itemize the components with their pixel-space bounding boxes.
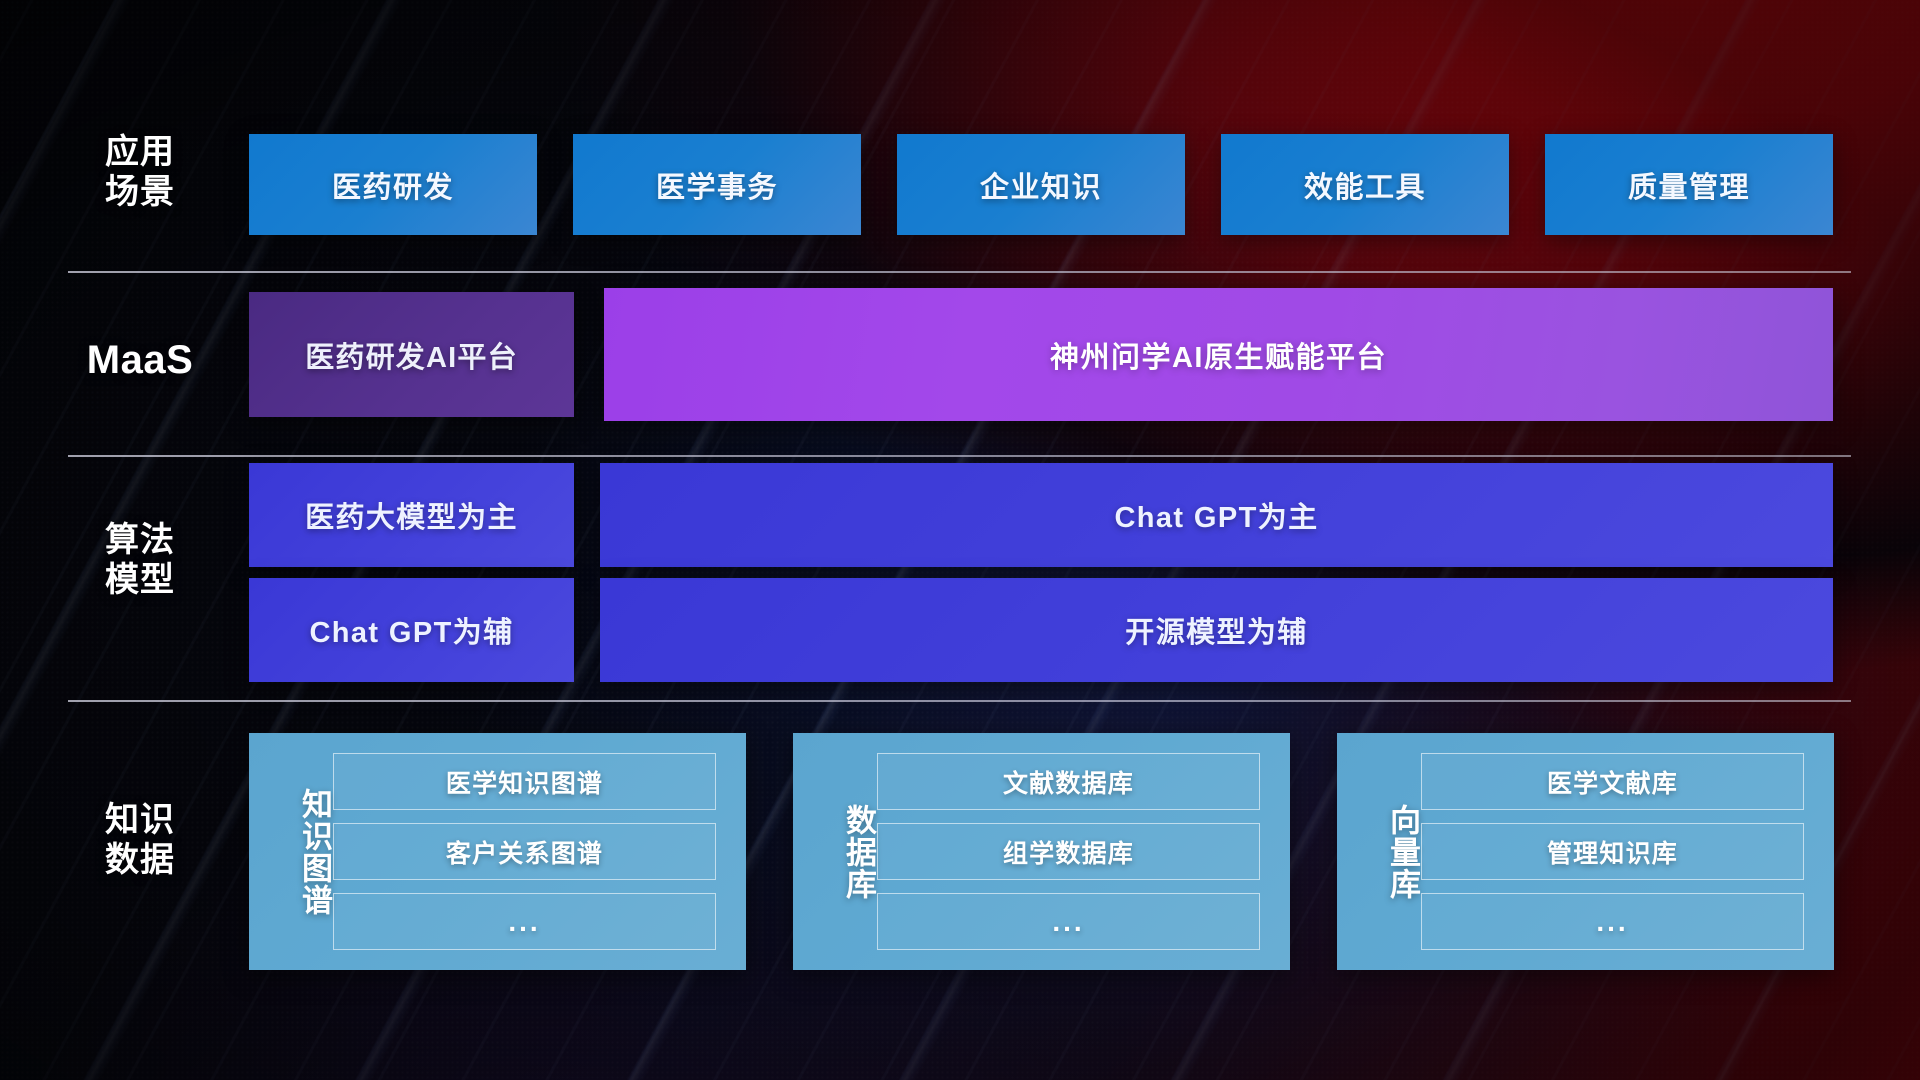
slide-canvas: 应用 场景 医药研发 医学事务 企业知识 效能工具 质量管理 MaaS 医药研发… bbox=[0, 0, 1920, 1080]
row-label-knowledge: 知识 数据 bbox=[60, 800, 220, 880]
knowledge-group-0-vertical-label: 知识图谱 bbox=[249, 788, 333, 916]
knowledge-item-2-0[interactable]: 医学文献库 bbox=[1421, 753, 1804, 810]
knowledge-item-0-1[interactable]: 客户关系图谱 bbox=[333, 823, 716, 880]
knowledge-item-label-2-0: 医学文献库 bbox=[1547, 764, 1678, 800]
app-box-1[interactable]: 医学事务 bbox=[573, 134, 861, 235]
app-box-label-0: 医药研发 bbox=[332, 164, 454, 206]
algo-box-left-top-label: 医药大模型为主 bbox=[305, 494, 518, 536]
knowledge-item-2-2[interactable]: ... bbox=[1421, 893, 1804, 950]
knowledge-item-label-2-1: 管理知识库 bbox=[1547, 834, 1678, 870]
knowledge-item-label-1-1: 组学数据库 bbox=[1003, 834, 1134, 870]
knowledge-group-1: 数据库 文献数据库 组学数据库 ... bbox=[793, 733, 1290, 970]
knowledge-group-2-vertical-label: 向量库 bbox=[1337, 804, 1421, 900]
knowledge-item-1-1[interactable]: 组学数据库 bbox=[877, 823, 1260, 880]
knowledge-group-0: 知识图谱 医学知识图谱 客户关系图谱 ... bbox=[249, 733, 746, 970]
knowledge-group-1-items: 文献数据库 组学数据库 ... bbox=[877, 733, 1290, 970]
algo-box-left-bottom[interactable]: Chat GPT为辅 bbox=[249, 578, 574, 682]
app-box-label-3: 效能工具 bbox=[1304, 164, 1426, 206]
diagram-content: 应用 场景 医药研发 医学事务 企业知识 效能工具 质量管理 MaaS 医药研发… bbox=[0, 0, 1920, 1080]
app-box-0[interactable]: 医药研发 bbox=[249, 134, 537, 235]
app-box-4[interactable]: 质量管理 bbox=[1545, 134, 1833, 235]
knowledge-item-2-1[interactable]: 管理知识库 bbox=[1421, 823, 1804, 880]
app-box-3[interactable]: 效能工具 bbox=[1221, 134, 1509, 235]
maas-box-right-label: 神州问学AI原生赋能平台 bbox=[1050, 334, 1387, 376]
divider-maas-algorithm bbox=[68, 455, 1851, 457]
app-box-label-4: 质量管理 bbox=[1628, 164, 1750, 206]
app-box-label-1: 医学事务 bbox=[656, 164, 778, 206]
maas-box-right[interactable]: 神州问学AI原生赋能平台 bbox=[604, 288, 1833, 421]
knowledge-group-1-vertical-label: 数据库 bbox=[793, 804, 877, 900]
algo-box-right-top[interactable]: Chat GPT为主 bbox=[600, 463, 1833, 567]
knowledge-item-1-2[interactable]: ... bbox=[877, 893, 1260, 950]
knowledge-group-2-items: 医学文献库 管理知识库 ... bbox=[1421, 733, 1834, 970]
app-box-label-2: 企业知识 bbox=[980, 164, 1102, 206]
algo-box-right-top-label: Chat GPT为主 bbox=[1114, 494, 1318, 536]
knowledge-item-label-0-2: ... bbox=[508, 906, 540, 938]
maas-box-left-label: 医药研发AI平台 bbox=[305, 334, 518, 376]
knowledge-item-1-0[interactable]: 文献数据库 bbox=[877, 753, 1260, 810]
knowledge-item-label-0-1: 客户关系图谱 bbox=[446, 834, 603, 870]
knowledge-item-label-1-2: ... bbox=[1052, 906, 1084, 938]
divider-algorithm-knowledge bbox=[68, 700, 1851, 702]
row-label-maas: MaaS bbox=[60, 337, 220, 384]
knowledge-item-label-1-0: 文献数据库 bbox=[1003, 764, 1134, 800]
knowledge-group-0-items: 医学知识图谱 客户关系图谱 ... bbox=[333, 733, 746, 970]
algo-box-right-bottom[interactable]: 开源模型为辅 bbox=[600, 578, 1833, 682]
knowledge-item-0-0[interactable]: 医学知识图谱 bbox=[333, 753, 716, 810]
knowledge-item-label-0-0: 医学知识图谱 bbox=[446, 764, 603, 800]
algo-box-right-bottom-label: 开源模型为辅 bbox=[1125, 609, 1307, 651]
app-box-2[interactable]: 企业知识 bbox=[897, 134, 1185, 235]
row-label-algorithm: 算法 模型 bbox=[60, 520, 220, 600]
algo-box-left-bottom-label: Chat GPT为辅 bbox=[309, 609, 513, 651]
knowledge-group-2: 向量库 医学文献库 管理知识库 ... bbox=[1337, 733, 1834, 970]
knowledge-item-label-2-2: ... bbox=[1596, 906, 1628, 938]
row-label-application: 应用 场景 bbox=[60, 132, 220, 212]
algo-box-left-top[interactable]: 医药大模型为主 bbox=[249, 463, 574, 567]
knowledge-item-0-2[interactable]: ... bbox=[333, 893, 716, 950]
divider-application-maas bbox=[68, 271, 1851, 273]
maas-box-left[interactable]: 医药研发AI平台 bbox=[249, 292, 574, 417]
